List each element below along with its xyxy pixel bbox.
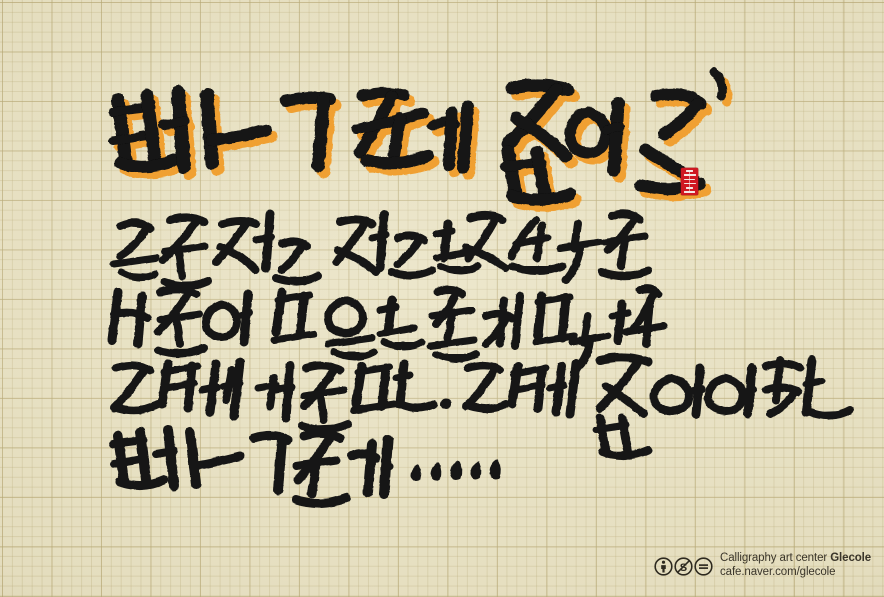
calligraphy-artwork [0,0,884,597]
seal-glyphs [684,170,696,193]
seal-stroke [684,183,696,185]
credit-prefix: Calligraphy art center [720,552,830,564]
seal-stroke [684,174,696,176]
credit-line-url: cafe.naver.com/glecole [720,566,871,580]
seal-stroke [684,179,694,181]
creative-commons-icons: S [654,557,713,576]
license-credit-footer: S Calligraphy art center Glecole cafe.na… [654,553,871,579]
cc-nd-icon [694,557,713,576]
body-ink-strokes [112,214,850,504]
seal-stroke [686,170,693,172]
artist-seal-stamp [681,168,698,195]
calligraphy-artwork-canvas: 떠나기 전에 잡아요 물질적인 것은 돈을주고 살수있지만 사람의 마음은 쉽게… [0,0,884,597]
headline-ink-strokes [113,72,722,200]
seal-stroke [684,191,694,193]
cc-by-icon [654,557,673,576]
seal-stroke [686,187,693,189]
credit-brand-name: Glecole [830,552,871,564]
cc-nc-icon: S [674,557,693,576]
credit-line-organization: Calligraphy art center Glecole [720,552,871,566]
credit-text-block: Calligraphy art center Glecole cafe.nave… [720,552,871,579]
